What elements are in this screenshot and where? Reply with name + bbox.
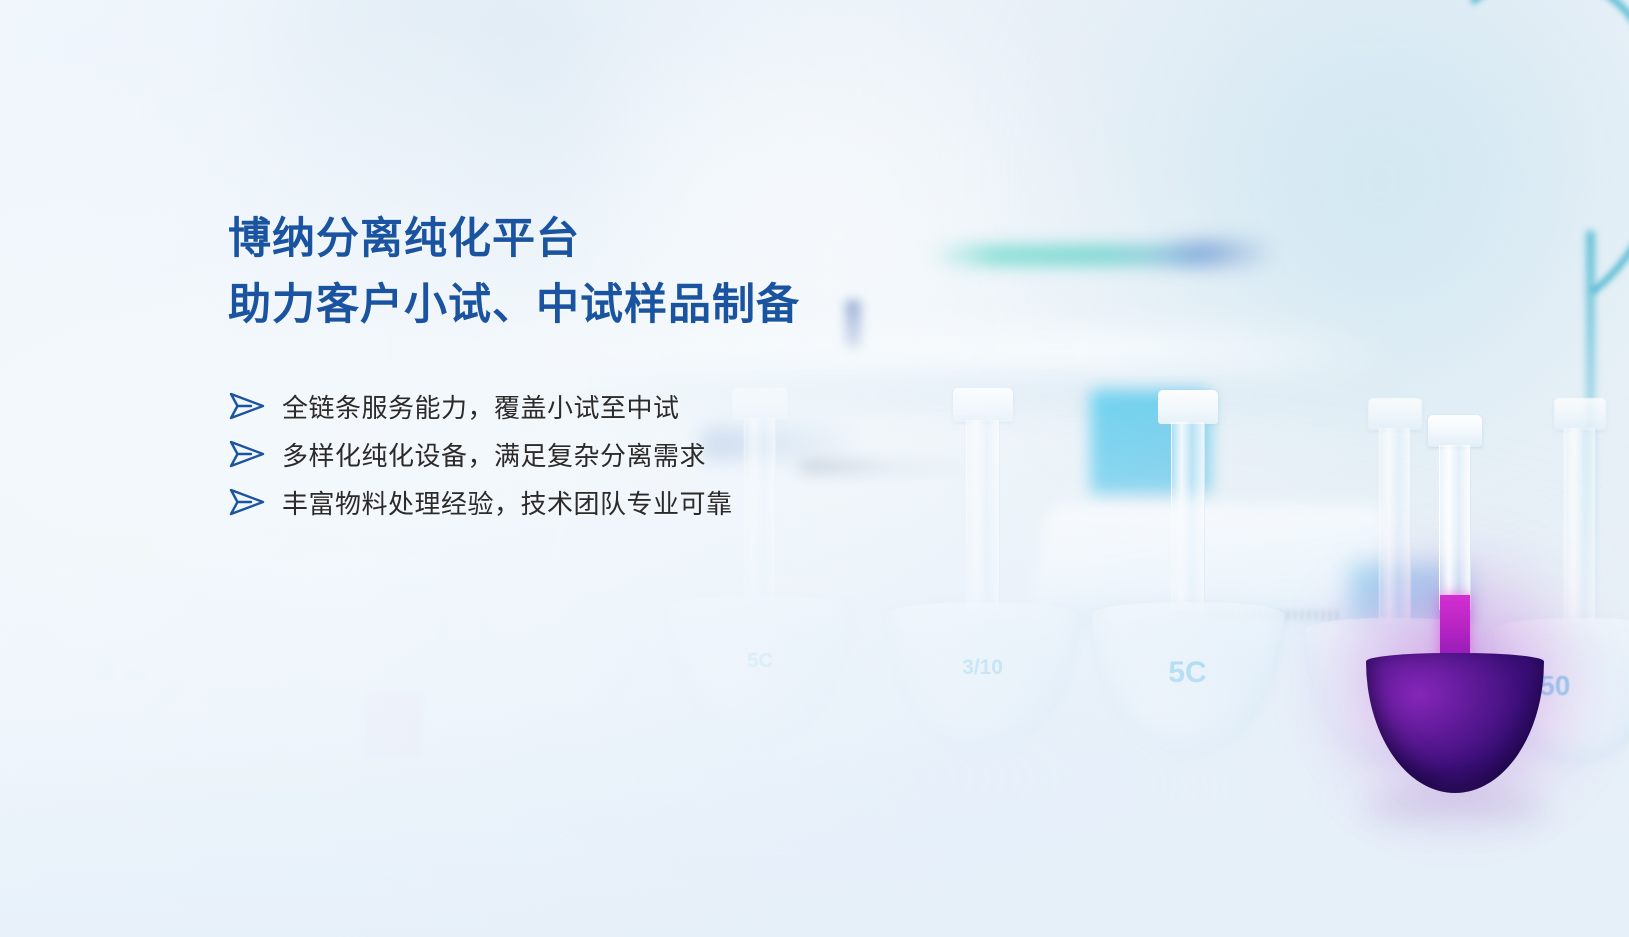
blue-streak [1155,243,1275,263]
flask-neck [155,365,175,540]
feature-list: 全链条服务能力，覆盖小试至中试 多样化纯化设备，满足复杂分离需求 [228,382,800,526]
flask-left-small [105,345,225,675]
flask-purple-focal [1360,415,1550,785]
feature-item-2: 多样化纯化设备，满足复杂分离需求 [228,430,800,478]
send-arrow-icon [228,487,266,517]
feature-item-label: 多样化纯化设备，满足复杂分离需求 [282,436,706,473]
headline-line-2: 助力客户小试、中试样品制备 [228,272,800,338]
flask-stopper [1428,415,1482,447]
navy-marker-blur [845,300,861,348]
flask-stopper [1158,390,1218,424]
purple-reflection [1362,787,1548,839]
feature-item-3: 丰富物料处理经验，技术团队专业可靠 [228,478,800,526]
flask-neck [1439,445,1471,610]
flask-stopper [148,345,182,367]
feature-item-label: 全链条服务能力，覆盖小试至中试 [282,388,680,425]
send-arrow-icon [228,391,266,421]
feature-item-label: 丰富物料处理经验，技术团队专业可靠 [282,484,733,521]
banner-headline: 博纳分离纯化平台 助力客户小试、中试样品制备 [228,206,800,338]
flask-stopper [1554,398,1606,430]
headline-line-1: 博纳分离纯化平台 [228,206,800,272]
feature-item-1: 全链条服务能力，覆盖小试至中试 [228,382,800,430]
flask-stopper [953,388,1013,422]
hero-banner: 50 ml 5C 3/10 [0,0,1629,937]
banner-content: 博纳分离纯化平台 助力客户小试、中试样品制备 全链条服务能力，覆盖小试至中试 [228,206,800,526]
send-arrow-icon [228,439,266,469]
